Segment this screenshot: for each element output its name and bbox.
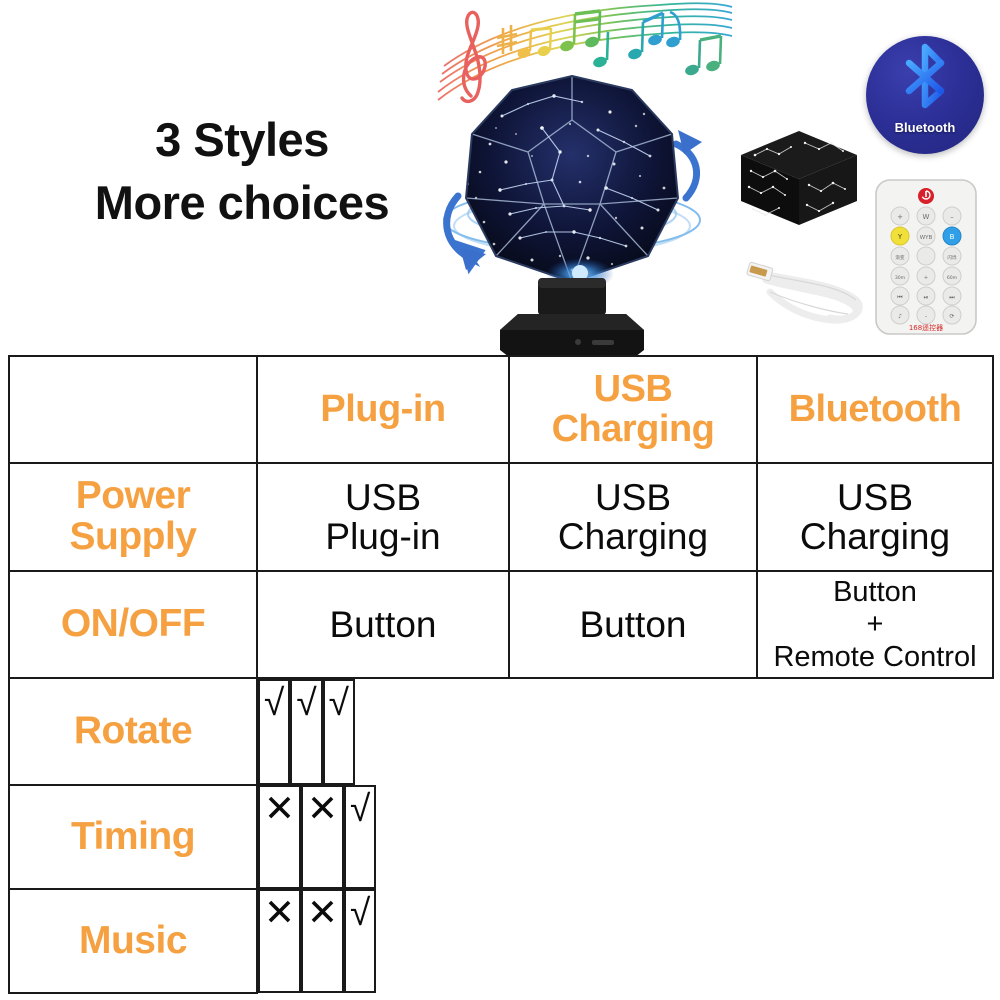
cell-rotate-plug-in: √ [258,679,290,785]
table-row: ON/OFF Button Button Button + Remote Con… [9,571,993,678]
remote-model-label: 168遥控器 [909,323,943,332]
svg-text:⏭: ⏭ [949,294,955,301]
cell-music-bluetooth: √ [344,889,376,993]
svg-text:W: W [923,213,930,221]
row-label-on-off: ON/OFF [9,571,257,678]
table-header-row: Plug-in USB Charging Bluetooth [9,356,993,463]
star-projector-lamp [432,68,712,356]
headline-line-2: More choices [52,171,432,234]
svg-text:⟳: ⟳ [949,313,954,320]
bluetooth-badge-label: Bluetooth [866,120,984,135]
row-label-timing: Timing [9,785,257,889]
header-cell-empty [9,356,257,463]
svg-text:⏯: ⏯ [924,294,929,301]
svg-text:闪烁: 闪烁 [947,254,957,261]
cell-power-supply-bluetooth: USB Charging [757,463,993,571]
table-row: Music ✕ ✕ √ [9,889,993,993]
cell-music-plug-in: ✕ [258,889,301,993]
svg-text:B: B [950,233,955,241]
cell-rotate-usb-charging: √ [290,679,322,785]
svg-text:♪: ♪ [898,313,902,320]
cell-music-usb-charging: ✕ [301,889,344,993]
cell-timing-plug-in: ✕ [258,785,301,889]
cell-power-supply-plug-in: USB Plug-in [257,463,509,571]
svg-text:⏮: ⏮ [897,294,903,301]
svg-text:30m: 30m [895,275,906,281]
svg-text:Y: Y [897,233,903,241]
headline-line-1: 3 Styles [52,108,432,171]
product-comparison-infographic: 3 Styles More choices [0,0,1000,1000]
header-cell-plug-in: Plug-in [257,356,509,463]
cell-power-supply-usb-charging: USB Charging [509,463,757,571]
usb-cable [740,248,872,332]
hero-section: 3 Styles More choices [0,0,1000,355]
cell-on-off-usb-charging: Button [509,571,757,678]
row-label-music: Music [9,889,257,993]
cell-timing-usb-charging: ✕ [301,785,344,889]
svg-text:60m: 60m [947,275,958,281]
bluetooth-icon [899,43,951,109]
table-row: Rotate √ √ √ [9,678,993,785]
svg-text:WYB: WYB [920,235,933,241]
comparison-table: Plug-in USB Charging Bluetooth Power Sup… [8,355,994,994]
table-row: Power Supply USB Plug-in USB Charging US… [9,463,993,571]
svg-text:+: + [924,275,928,281]
cell-timing-bluetooth: √ [344,785,376,889]
svg-text:+: + [897,213,903,221]
cell-on-off-bluetooth: Button + Remote Control [757,571,993,678]
constellation-gift-box [735,125,863,230]
svg-text:渐变: 渐变 [895,254,905,261]
header-cell-usb-charging: USB Charging [509,356,757,463]
cell-rotate-bluetooth: √ [323,679,355,785]
header-cell-bluetooth: Bluetooth [757,356,993,463]
row-label-rotate: Rotate [9,678,257,785]
row-label-power-supply: Power Supply [9,463,257,571]
page-title: 3 Styles More choices [52,108,432,235]
cell-on-off-plug-in: Button [257,571,509,678]
svg-text:–: – [950,213,954,221]
bluetooth-badge: Bluetooth [866,36,984,154]
ir-remote-control: + W – Y WYB B 渐变 闪烁 30m + 60m ⏮ ⏯ ⏭ ♪ – … [872,178,980,336]
table-row: Timing ✕ ✕ √ [9,785,993,889]
